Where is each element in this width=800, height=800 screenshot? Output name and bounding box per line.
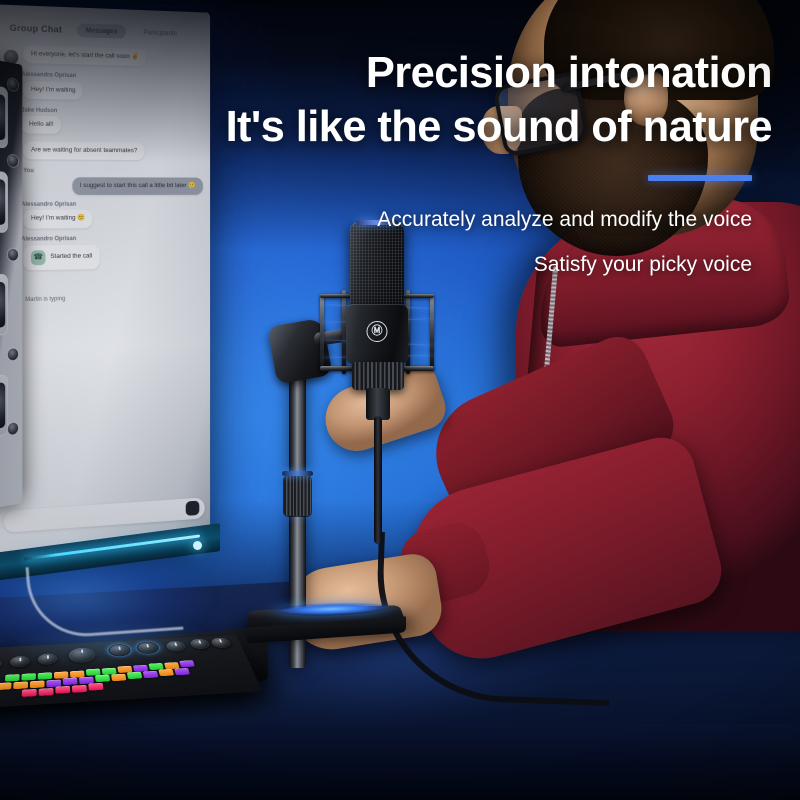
- headline-line-2: It's like the sound of nature: [226, 106, 772, 150]
- tab-messages[interactable]: Messages: [77, 23, 125, 38]
- mixer-pad[interactable]: [55, 686, 70, 694]
- message-bubble: Hey! I'm waiting 🙂: [23, 210, 92, 228]
- microphone-body: Ⓜ: [346, 304, 408, 364]
- message-sender: Alessandro Oprisan: [21, 235, 206, 243]
- headline-line-1: Precision intonation: [366, 52, 772, 96]
- participant-rail: [0, 58, 22, 510]
- message-composer[interactable]: [4, 497, 205, 532]
- mixer-pad[interactable]: [22, 689, 37, 697]
- message-bubble: Hi everyone, let's start the call soon ✌: [23, 45, 146, 66]
- group-chat-panel: Group Chat Messages Participants Hi ever…: [0, 15, 206, 563]
- mixer-pad[interactable]: [0, 682, 12, 690]
- list-item: Hey! I'm waiting: [4, 80, 203, 104]
- mixer-pad[interactable]: [30, 680, 45, 688]
- stand-height-collar: [284, 476, 311, 516]
- microphone-grille: [350, 222, 404, 314]
- promo-banner: Group Chat Messages Participants Hi ever…: [0, 0, 800, 800]
- chat-monitor: Group Chat Messages Participants Hi ever…: [0, 4, 210, 564]
- list-item: Hello all!: [21, 116, 203, 136]
- chat-tabs: Messages Participants: [77, 23, 185, 40]
- list-item: ☎ Started the call: [4, 243, 203, 270]
- message-bubble: Are we waiting for absent teammates?: [23, 142, 144, 161]
- tab-participants[interactable]: Participants: [135, 25, 185, 40]
- message-bubble: Hey! I'm waiting: [23, 80, 83, 99]
- message-bubble-self: I suggest to start this call a little bi…: [72, 177, 203, 195]
- condenser-microphone: Ⓜ: [258, 218, 458, 688]
- list-item: Hey! I'm waiting 🙂: [4, 210, 203, 231]
- message-bubble: Hello all!: [21, 116, 61, 135]
- mixer-pad[interactable]: [13, 681, 28, 689]
- subheadline-line-2: Satisfy your picky voice: [534, 253, 752, 277]
- message-bubble-call: ☎ Started the call: [23, 245, 100, 271]
- subheadline-line-1: Accurately analyze and modify the voice: [377, 208, 752, 232]
- microphone-xlr-stem: [374, 416, 382, 544]
- chat-title: Group Chat: [10, 22, 62, 35]
- message-sender: Jake Hudson: [21, 107, 206, 116]
- typing-status-text: Martin is typing: [25, 296, 65, 304]
- mixer-pad[interactable]: [88, 683, 103, 691]
- mixer-pad[interactable]: [39, 688, 54, 696]
- microphone-barrel: [352, 362, 404, 390]
- message-sender: You: [23, 168, 206, 175]
- microphone-cable: [373, 532, 615, 706]
- led-endpoint-glow: [193, 541, 202, 550]
- list-item: Are we waiting for absent teammates?: [4, 141, 203, 162]
- phone-icon: ☎: [31, 250, 45, 265]
- typing-indicator: Martin is typing: [4, 288, 203, 308]
- mixer-pad[interactable]: [72, 685, 87, 693]
- mixer-pad[interactable]: [63, 678, 78, 686]
- call-message-text: Started the call: [50, 253, 92, 262]
- brand-logo-icon: Ⓜ: [367, 321, 388, 342]
- accent-underline-bar: [648, 175, 752, 181]
- send-icon[interactable]: [186, 501, 200, 516]
- list-item: I suggest to start this call a little bi…: [17, 177, 203, 195]
- message-sender: Alessandro Oprisan: [21, 201, 206, 207]
